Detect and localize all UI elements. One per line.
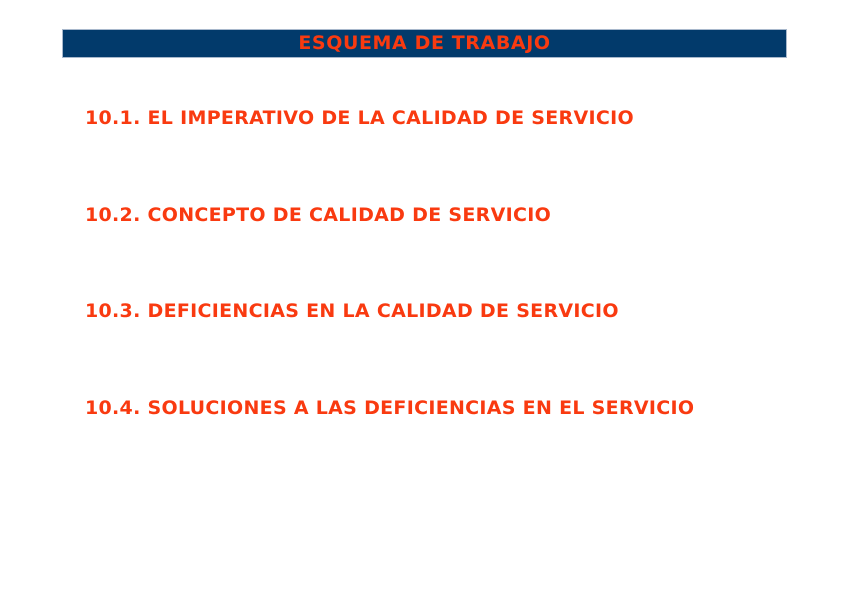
agenda-item-10-2[interactable]: 10.2. CONCEPTO DE CALIDAD DE SERVICIO (85, 205, 805, 302)
agenda-item-label: 10.1. EL IMPERATIVO DE LA CALIDAD DE SER… (85, 107, 634, 129)
slide-title-banner: ESQUEMA DE TRABAJO (62, 29, 787, 58)
agenda-list: 10.1. EL IMPERATIVO DE LA CALIDAD DE SER… (85, 108, 805, 494)
agenda-item-10-4[interactable]: 10.4. SOLUCIONES A LAS DEFICIENCIAS EN E… (85, 398, 805, 495)
agenda-item-10-3[interactable]: 10.3. DEFICIENCIAS EN LA CALIDAD DE SERV… (85, 301, 805, 398)
agenda-item-label: 10.4. SOLUCIONES A LAS DEFICIENCIAS EN E… (85, 397, 694, 419)
agenda-item-label: 10.3. DEFICIENCIAS EN LA CALIDAD DE SERV… (85, 300, 619, 322)
agenda-item-10-1[interactable]: 10.1. EL IMPERATIVO DE LA CALIDAD DE SER… (85, 108, 805, 205)
slide-title: ESQUEMA DE TRABAJO (298, 34, 550, 53)
agenda-item-label: 10.2. CONCEPTO DE CALIDAD DE SERVICIO (85, 204, 551, 226)
presentation-slide: ESQUEMA DE TRABAJO 10.1. EL IMPERATIVO D… (0, 0, 848, 599)
